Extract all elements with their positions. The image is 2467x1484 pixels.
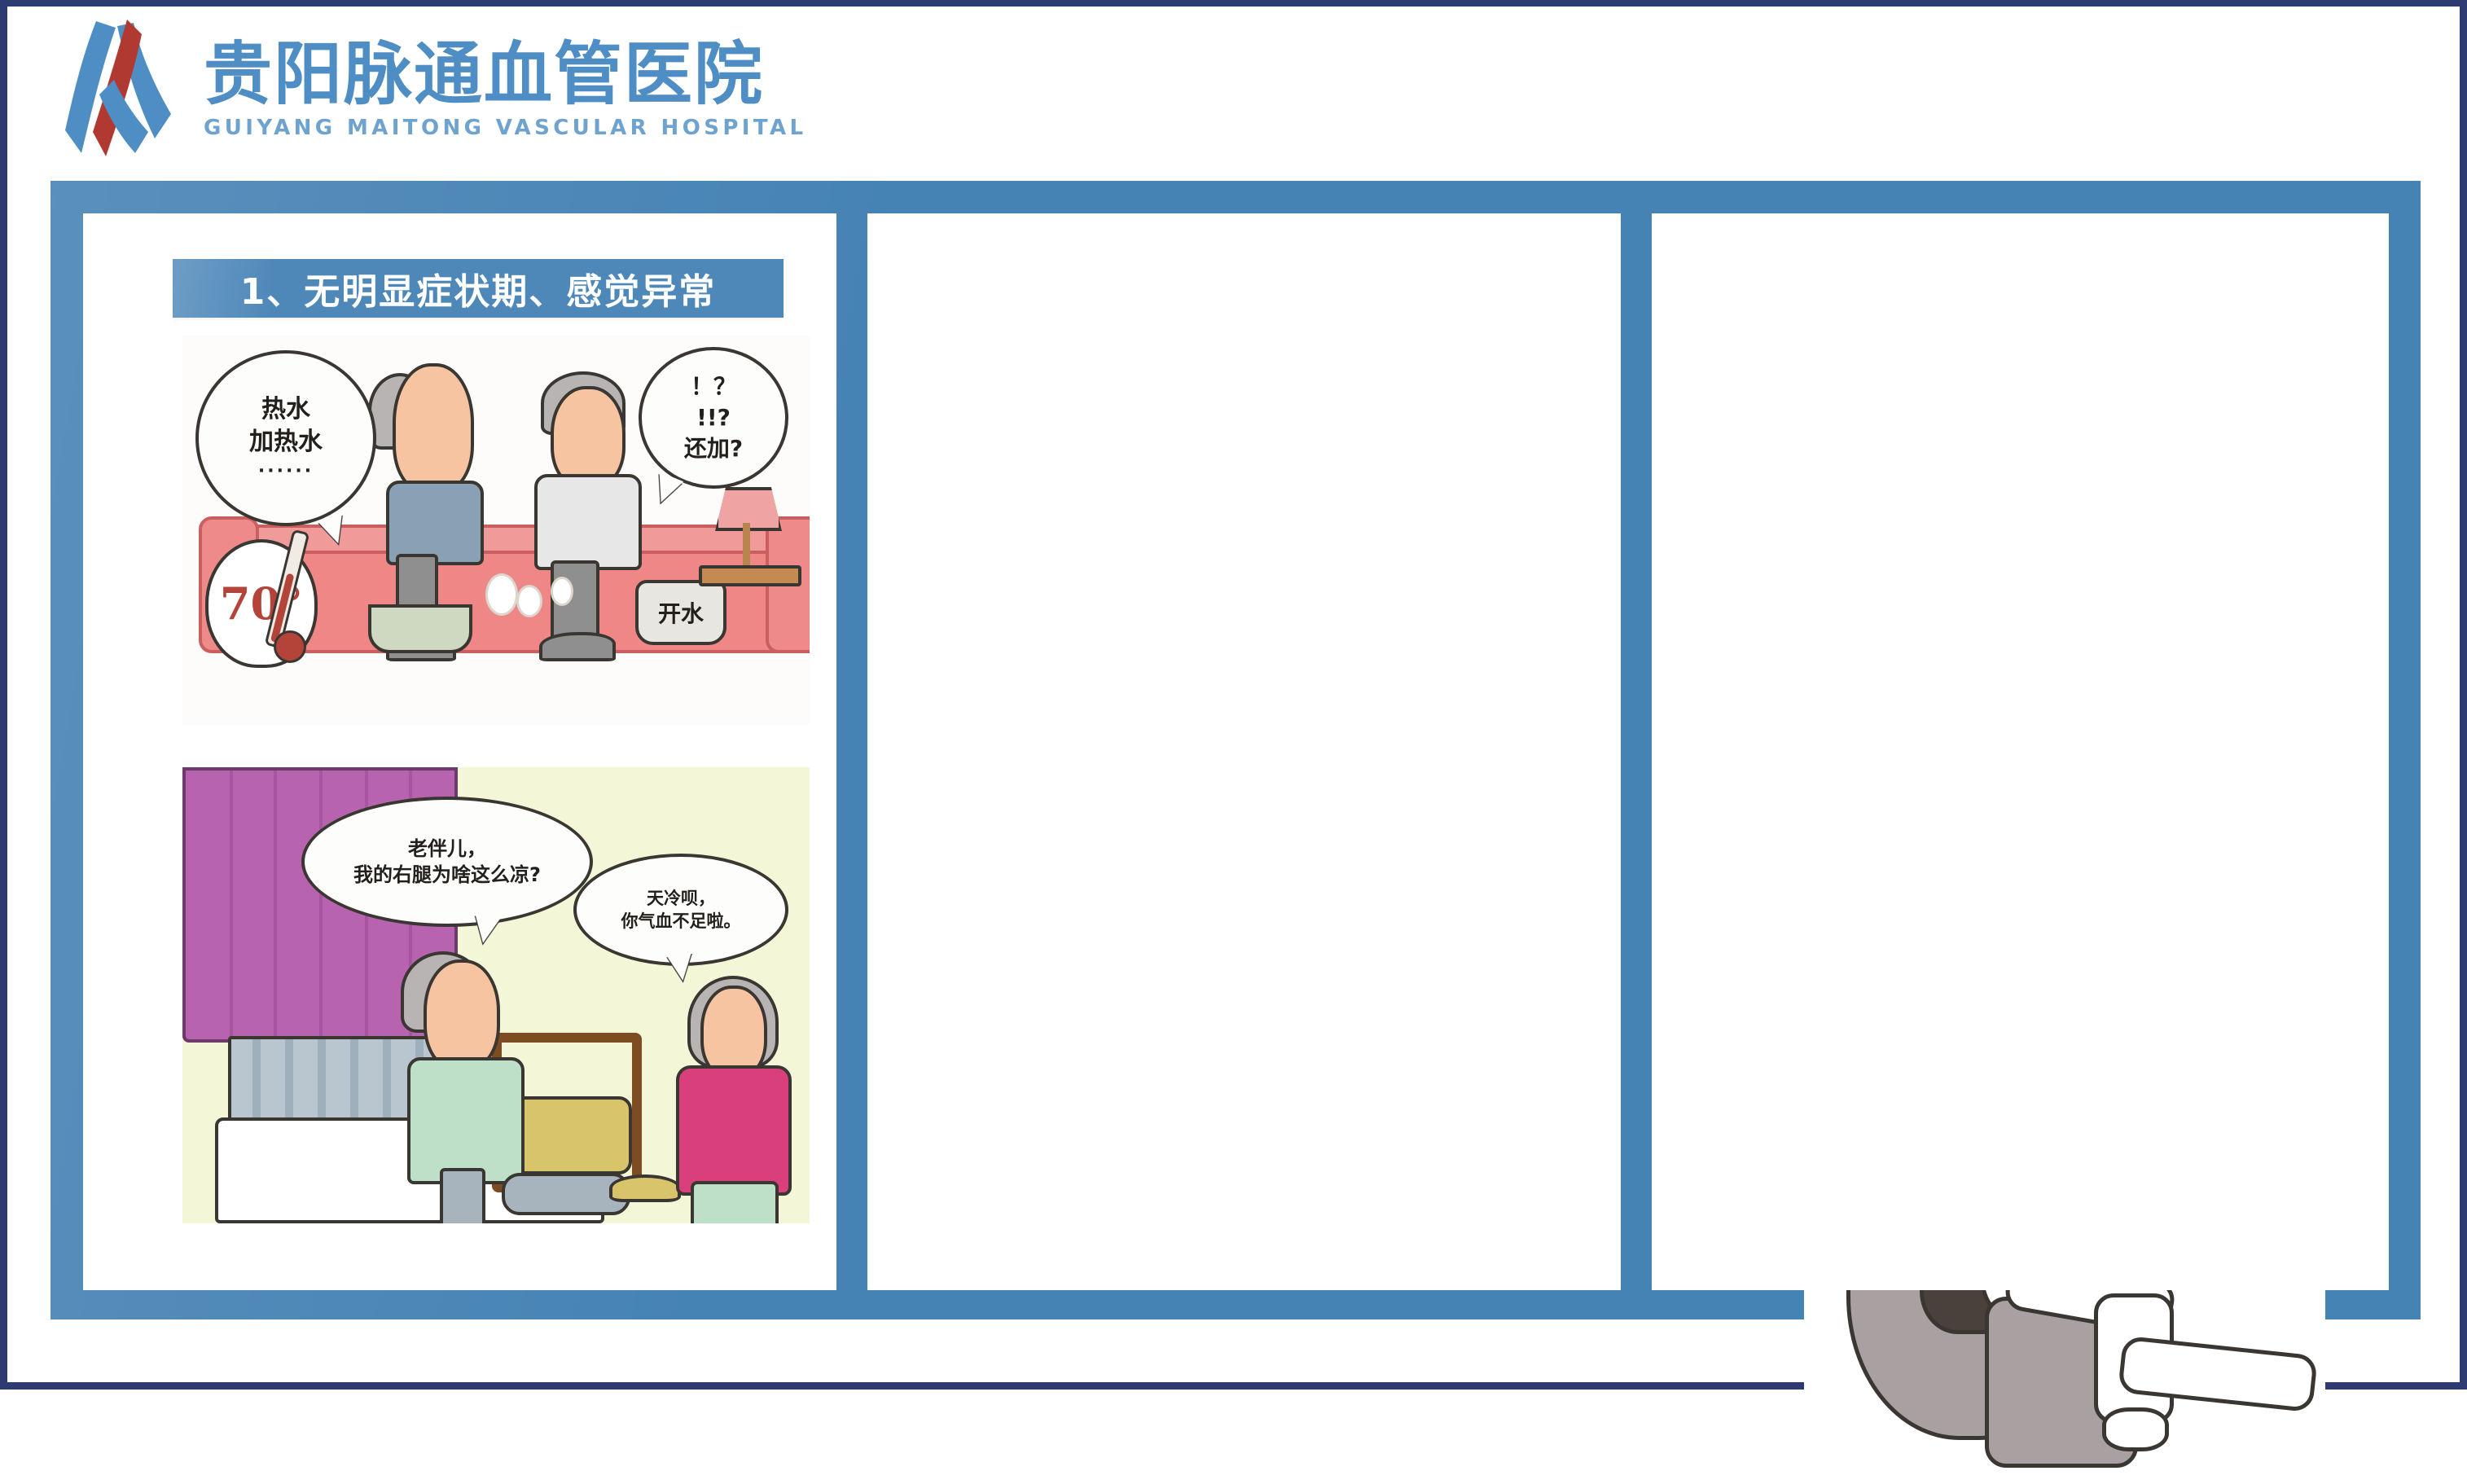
figure-couch-cartoon: 开水 70° 热水 加热水 ······ xyxy=(182,336,810,725)
bubble-line-2: 你气血不足啦。 xyxy=(621,910,741,933)
bubble-line-3: ······ xyxy=(258,459,314,484)
figure-bedroom-cartoon: 老伴儿， 我的右腿为啥这么凉? 天冷呗， 你气血不足啦。 xyxy=(182,767,810,1223)
hospital-name-en: GUIYANG MAITONG VASCULAR HOSPITAL xyxy=(204,116,806,140)
panel-title-stage-1: 1、无明显症状期、感觉异常 xyxy=(173,259,784,318)
bubble-line-1: 天冷呗， xyxy=(647,887,715,910)
speech-bubble-cold-leg: 老伴儿， 我的右腿为啥这么凉? xyxy=(301,797,593,927)
bubble-line-3: 还加? xyxy=(684,433,743,464)
hospital-brand-header: 贵阳脉通血管医院 GUIYANG MAITONG VASCULAR HOSPIT… xyxy=(57,15,806,161)
panel-card-stage-2-3: ∿∿ ∿∿ xyxy=(867,213,1621,1290)
bubble-line-2: 加热水 xyxy=(249,426,323,459)
kettle-icon: 开水 xyxy=(635,580,726,645)
bubble-line-1: 老伴儿， xyxy=(408,836,486,862)
bubble-line-2: !!? xyxy=(696,402,731,433)
speech-bubble-surprise: ！？ !!? 还加? xyxy=(639,347,788,489)
panel-title-text: 1、无明显症状期、感觉异常 xyxy=(240,262,717,314)
kettle-label: 开水 xyxy=(658,596,704,629)
bubble-line-1: ！？ xyxy=(691,371,736,402)
poster-stage: 开水 70° 热水 加热水 ······ xyxy=(50,181,2421,1319)
hospital-logo-icon xyxy=(57,16,179,160)
panel-card-stage-4: 4、期坏疽期 xyxy=(1652,213,2389,1290)
bubble-line-2: 我的右腿为啥这么凉? xyxy=(353,862,541,888)
hospital-name-cn: 贵阳脉通血管医院 xyxy=(204,40,806,108)
speech-bubble-wife-reply: 天冷呗， 你气血不足啦。 xyxy=(573,854,788,966)
panel-card-stage-1: 开水 70° 热水 加热水 ······ xyxy=(83,213,836,1290)
speech-bubble-hot-water: 热水 加热水 ······ xyxy=(195,350,376,526)
bubble-line-1: 热水 xyxy=(261,393,310,427)
